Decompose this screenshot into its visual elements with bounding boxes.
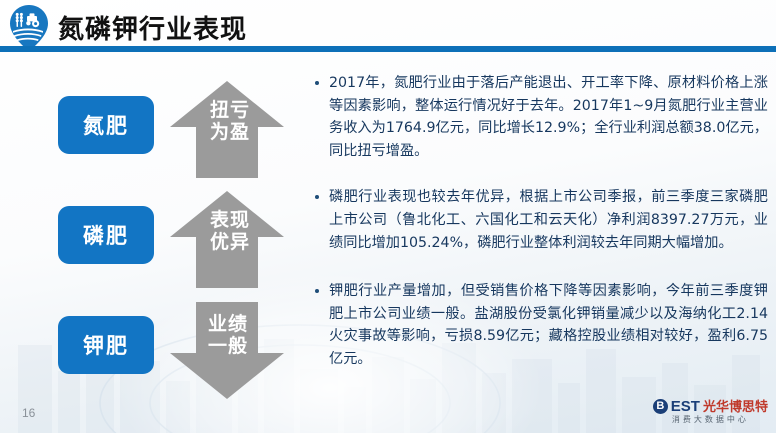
- arrow-label-line-2: 为盈: [210, 122, 282, 144]
- arrow-label-line-1: 业绩: [208, 314, 280, 336]
- brand-logo: B EST 光华博思特 消费大数据中心: [653, 399, 768, 425]
- chip-potash[interactable]: 钾肥: [58, 316, 154, 374]
- brand-logo-top: B EST 光华博思特: [653, 399, 768, 414]
- arrow-label-line-1: 表现: [210, 210, 282, 232]
- arrow-label-line-2: 优异: [210, 232, 282, 254]
- slide: 氮磷钾行业表现 氮肥 扭亏 为盈 磷肥: [0, 0, 776, 433]
- chip-label: 氮肥: [83, 110, 129, 140]
- fertilizer-rows: 氮肥 扭亏 为盈 磷肥 表现: [0, 62, 310, 407]
- page-number: 16: [22, 406, 35, 420]
- arrow-nitrogen: 扭亏 为盈: [168, 78, 286, 182]
- brand-subtitle: 消费大数据中心: [672, 415, 749, 425]
- title-underline: [0, 46, 776, 52]
- bullet-item-nitrogen: 2017年，氮肥行业由于落后产能退出、开工率下降、原材料价格上涨等因素影响，整体…: [313, 72, 768, 162]
- bullet-list: 2017年，氮肥行业由于落后产能退出、开工率下降、原材料价格上涨等因素影响，整体…: [313, 72, 768, 371]
- page-title: 氮磷钾行业表现: [58, 9, 247, 46]
- chip-phosphate[interactable]: 磷肥: [58, 206, 154, 264]
- brand-mark-icon: B: [653, 399, 668, 414]
- chip-label: 钾肥: [83, 330, 129, 360]
- slide-header: 氮磷钾行业表现: [0, 0, 776, 55]
- arrow-phosphate: 表现 优异: [168, 188, 286, 292]
- row-phosphate: 磷肥 表现 优异: [0, 186, 310, 296]
- arrow-label: 表现 优异: [210, 210, 282, 254]
- bullet-item-phosphate: 磷肥行业表现也较去年优异，根据上市公司季报，前三季度三家磷肥上市公司（鲁北化工、…: [313, 186, 768, 254]
- row-nitrogen: 氮肥 扭亏 为盈: [0, 76, 310, 186]
- arrow-label-line-1: 扭亏: [210, 100, 282, 122]
- arrow-potash: 业绩 一般: [168, 298, 286, 402]
- bullet-item-potash: 钾肥行业产量增加，但受销售价格下降等因素影响，今年前三季度钾肥上市公司业绩一般。…: [313, 280, 768, 370]
- arrow-label-line-2: 一般: [208, 336, 280, 358]
- brand-name: EST: [671, 399, 700, 414]
- chip-label: 磷肥: [83, 220, 129, 250]
- chip-nitrogen[interactable]: 氮肥: [58, 96, 154, 154]
- arrow-label: 业绩 一般: [208, 314, 280, 358]
- row-potash: 钾肥 业绩 一般: [0, 296, 310, 406]
- arrow-label: 扭亏 为盈: [210, 100, 282, 144]
- brand-name-cn: 光华博思特: [703, 399, 768, 414]
